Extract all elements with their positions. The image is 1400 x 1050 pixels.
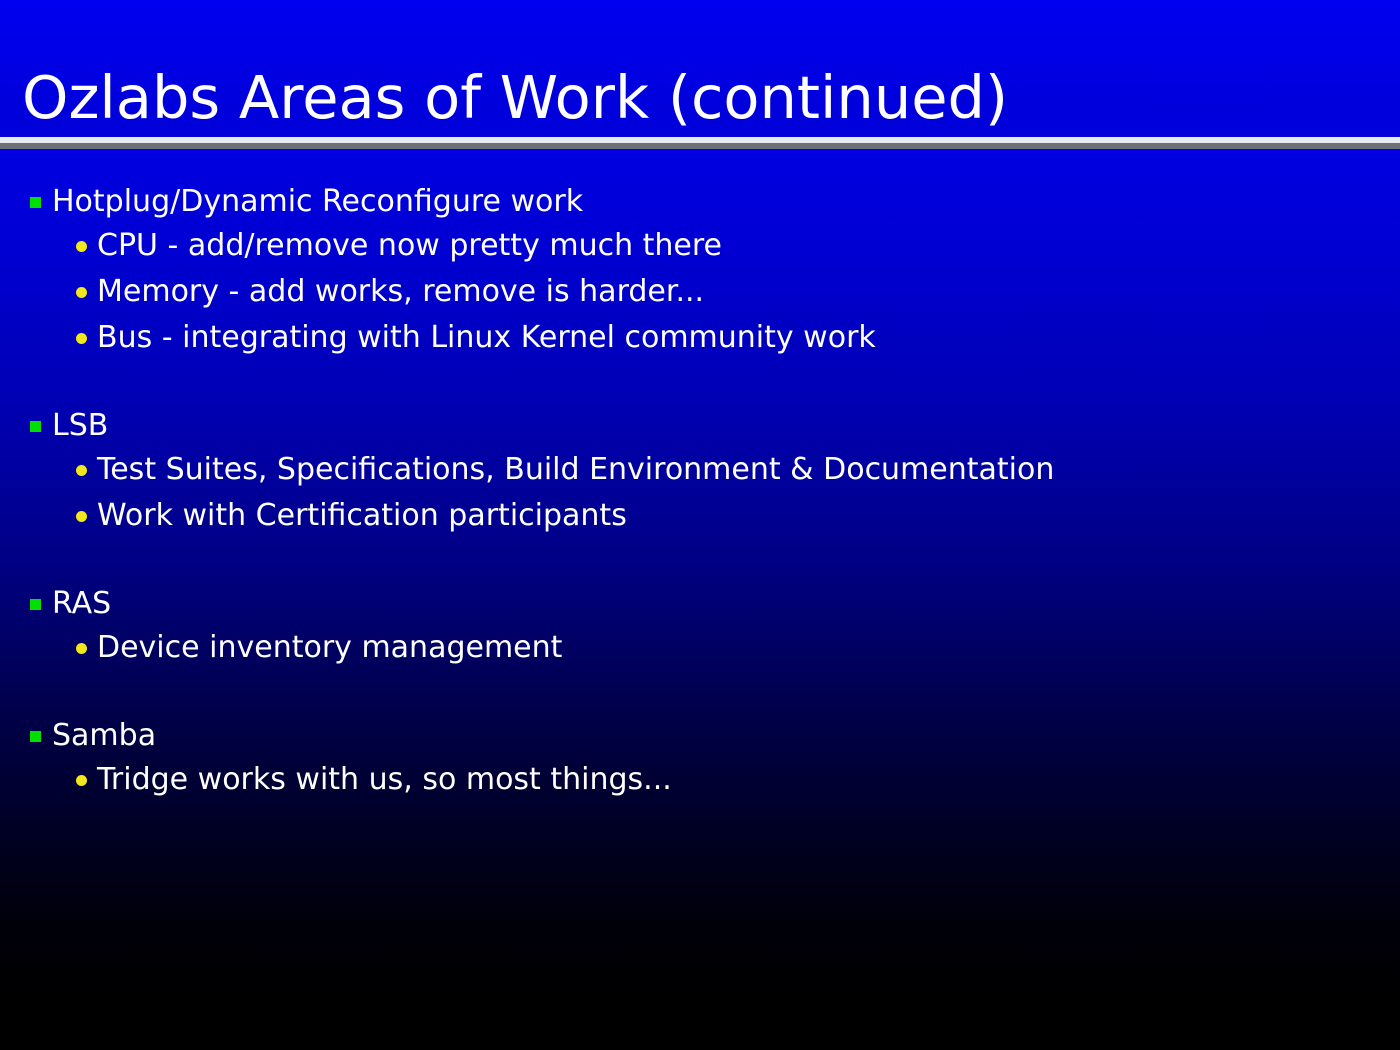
bullet-item-level2-label: Tridge works with us, so most things... [97, 757, 1400, 803]
bullet-item-level2-label: Work with Certification participants [97, 493, 1400, 539]
green-square-bullet-icon [30, 731, 41, 742]
presentation-slide: Ozlabs Areas of Work (continued) Hotplug… [0, 0, 1400, 1050]
yellow-circle-bullet-icon [76, 643, 87, 654]
yellow-circle-bullet-icon [76, 775, 87, 786]
bullet-item-level2: Work with Certification participants [0, 493, 1400, 539]
bullet-item-level1-label: RAS [52, 582, 1400, 625]
green-square-bullet-icon [30, 599, 41, 610]
bullet-item-level2: CPU - add/remove now pretty much there [0, 223, 1400, 269]
bullet-item-level2-label: Memory - add works, remove is harder... [97, 269, 1400, 315]
bullet-item-level2: Bus - integrating with Linux Kernel comm… [0, 315, 1400, 361]
group-spacer [0, 671, 1400, 714]
bullet-item-level1: Samba [0, 714, 1400, 757]
green-square-bullet-icon [30, 197, 41, 208]
bullet-group-lsb: LSB Test Suites, Specifications, Build E… [0, 404, 1400, 539]
bullet-item-level1: Hotplug/Dynamic Reconfigure work [0, 180, 1400, 223]
yellow-circle-bullet-icon [76, 287, 87, 298]
bullet-item-level1-label: Samba [52, 714, 1400, 757]
bullet-group-samba: Samba Tridge works with us, so most thin… [0, 714, 1400, 803]
yellow-circle-bullet-icon [76, 465, 87, 476]
yellow-circle-bullet-icon [76, 511, 87, 522]
bullet-item-level1-label: LSB [52, 404, 1400, 447]
bullet-item-level1: RAS [0, 582, 1400, 625]
slide-body: Hotplug/Dynamic Reconfigure work CPU - a… [0, 149, 1400, 1050]
page-title: Ozlabs Areas of Work (continued) [22, 68, 1008, 127]
bullet-item-level2: Tridge works with us, so most things... [0, 757, 1400, 803]
group-spacer [0, 361, 1400, 404]
green-square-bullet-icon [30, 421, 41, 432]
bullet-item-level2: Memory - add works, remove is harder... [0, 269, 1400, 315]
bullet-item-level1: LSB [0, 404, 1400, 447]
bullet-item-level2-label: Test Suites, Specifications, Build Envir… [97, 447, 1400, 493]
bullet-item-level2-label: CPU - add/remove now pretty much there [97, 223, 1400, 269]
group-spacer [0, 539, 1400, 582]
yellow-circle-bullet-icon [76, 333, 87, 344]
bullet-item-level2: Test Suites, Specifications, Build Envir… [0, 447, 1400, 493]
bullet-item-level2-label: Bus - integrating with Linux Kernel comm… [97, 315, 1400, 361]
bullet-group-hotplug: Hotplug/Dynamic Reconfigure work CPU - a… [0, 149, 1400, 361]
bullet-group-ras: RAS Device inventory management [0, 582, 1400, 671]
yellow-circle-bullet-icon [76, 241, 87, 252]
bullet-item-level2-label: Device inventory management [97, 625, 1400, 671]
bullet-item-level1-label: Hotplug/Dynamic Reconfigure work [52, 180, 1400, 223]
bullet-item-level2: Device inventory management [0, 625, 1400, 671]
